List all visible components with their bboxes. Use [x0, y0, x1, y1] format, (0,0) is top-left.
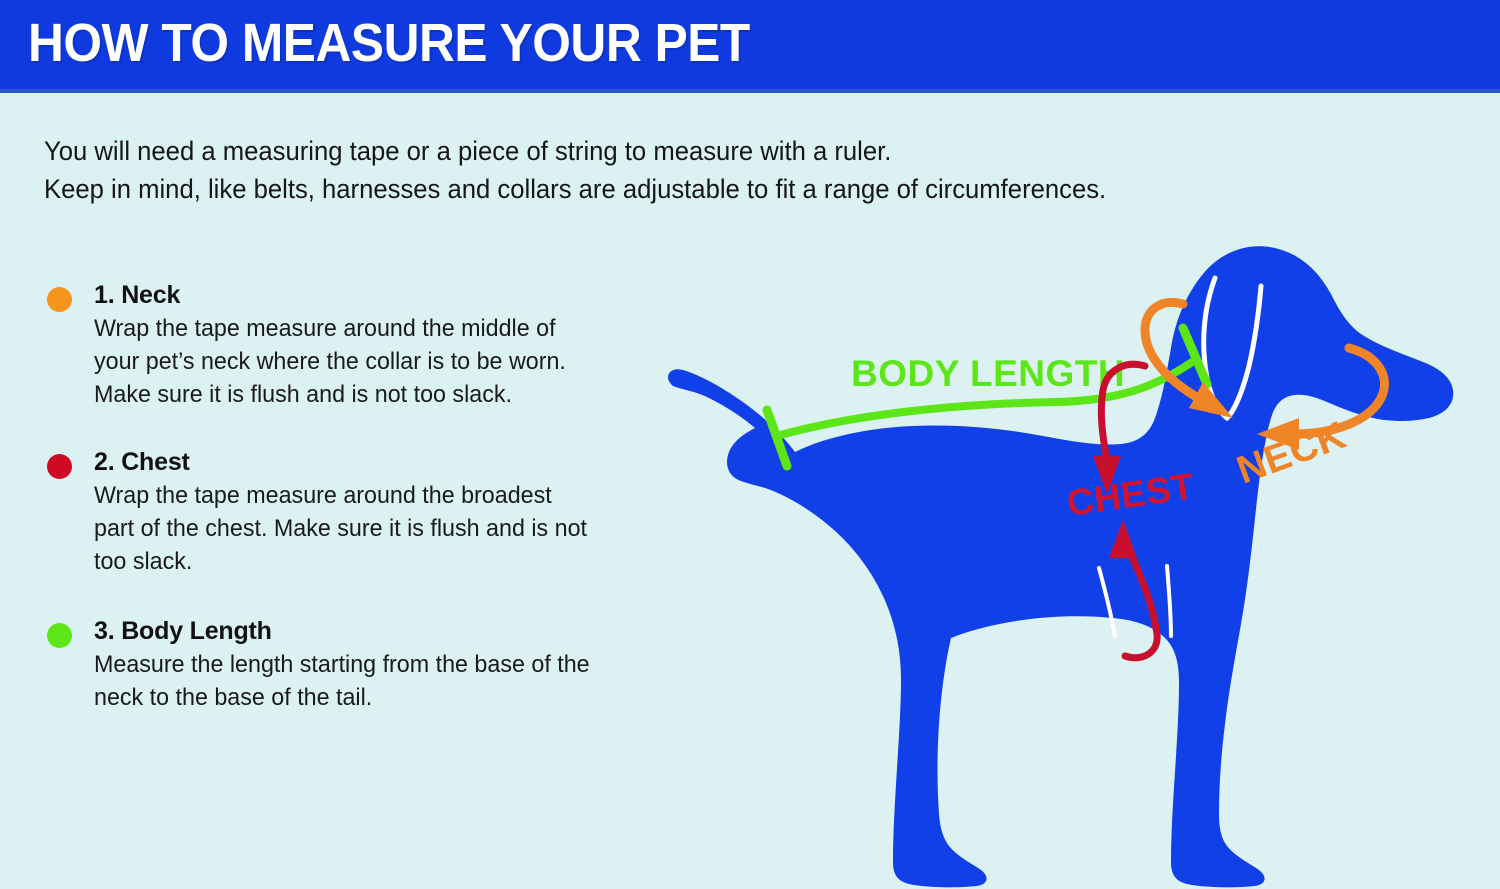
step-item-neck: 1. Neck Wrap the tape measure around the…: [44, 278, 684, 411]
bullet-body-length-icon: [47, 623, 72, 648]
step-desc-line: Wrap the tape measure around the broades…: [94, 479, 666, 512]
bullet-chest-icon: [47, 454, 72, 479]
step-title-neck: 1. Neck: [94, 278, 684, 312]
intro-paragraph: You will need a measuring tape or a piec…: [44, 132, 1317, 208]
step-desc-line: too slack.: [94, 545, 666, 578]
step-desc-body-length: Measure the length starting from the bas…: [94, 648, 666, 714]
step-desc-chest: Wrap the tape measure around the broades…: [94, 479, 666, 578]
header-underline: [0, 89, 1500, 93]
step-desc-line: your pet’s neck where the collar is to b…: [94, 345, 666, 378]
dog-measurement-diagram: BODY LENGTH CHEST NECK: [655, 238, 1500, 889]
step-title-chest: 2. Chest: [94, 445, 684, 479]
step-desc-line: Make sure it is flush and is not too sla…: [94, 378, 666, 411]
step-item-body-length: 3. Body Length Measure the length starti…: [44, 614, 684, 714]
intro-line-2: Keep in mind, like belts, harnesses and …: [44, 170, 1317, 208]
intro-line-1: You will need a measuring tape or a piec…: [44, 132, 1317, 170]
step-desc-line: Measure the length starting from the bas…: [94, 648, 666, 681]
page-title: HOW TO MEASURE YOUR PET: [28, 12, 750, 74]
step-title-body-length: 3. Body Length: [94, 614, 684, 648]
bullet-neck-icon: [47, 287, 72, 312]
infographic-page: HOW TO MEASURE YOUR PET You will need a …: [0, 0, 1500, 889]
measurement-steps-list: 1. Neck Wrap the tape measure around the…: [44, 278, 684, 744]
step-desc-line: neck to the base of the tail.: [94, 681, 666, 714]
step-desc-neck: Wrap the tape measure around the middle …: [94, 312, 666, 411]
step-desc-line: part of the chest. Make sure it is flush…: [94, 512, 666, 545]
step-desc-line: Wrap the tape measure around the middle …: [94, 312, 666, 345]
dog-silhouette-icon: [668, 246, 1453, 887]
step-item-chest: 2. Chest Wrap the tape measure around th…: [44, 445, 684, 578]
label-body-length: BODY LENGTH: [851, 353, 1125, 394]
